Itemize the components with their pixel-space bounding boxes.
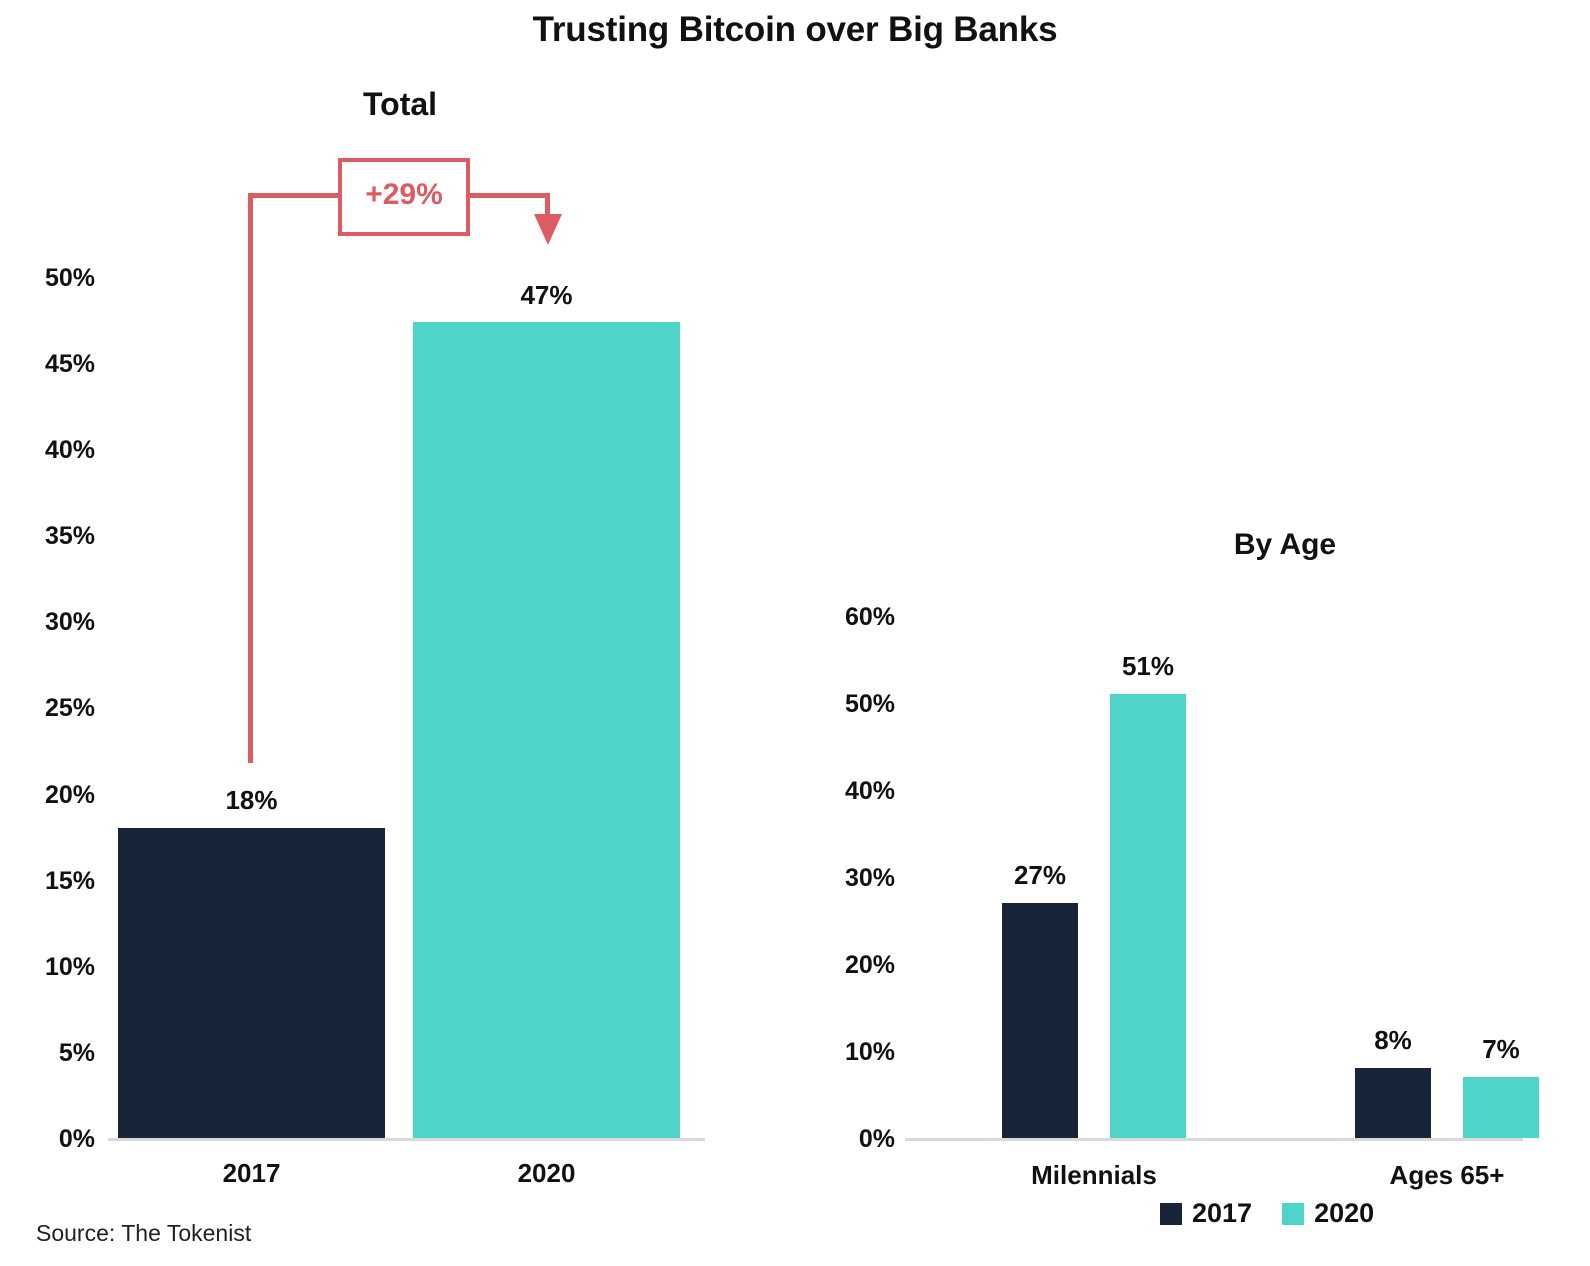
legend-item-2020[interactable]: 2020	[1282, 1198, 1374, 1229]
xtick-total-2020: 2020	[413, 1158, 680, 1189]
x-axis-line-byage	[905, 1138, 1523, 1141]
ytick-left-10: 10%	[0, 953, 95, 982]
bar-total-2020[interactable]	[413, 322, 680, 1138]
legend-item-2017[interactable]: 2017	[1160, 1198, 1252, 1229]
bar-value-byage-milennials-2020: 51%	[1110, 651, 1186, 682]
source-note: Source: The Tokenist	[36, 1220, 251, 1247]
annotation-stem-left	[248, 193, 253, 763]
legend-label-2017: 2017	[1192, 1198, 1252, 1229]
xtick-total-2017: 2017	[118, 1158, 385, 1189]
bar-value-total-2020: 47%	[413, 280, 680, 311]
ytick-right-30: 30%	[790, 864, 895, 893]
ytick-right-0: 0%	[790, 1125, 895, 1154]
ytick-left-5: 5%	[0, 1039, 95, 1068]
xtick-byage-ages65: Ages 65+	[1347, 1160, 1547, 1191]
x-axis-line-total	[108, 1138, 705, 1141]
ytick-left-40: 40%	[0, 436, 95, 465]
annotation-arrow-icon	[534, 214, 562, 245]
annotation-label: +29%	[338, 178, 470, 212]
ytick-left-0: 0%	[0, 1125, 95, 1154]
ytick-right-40: 40%	[790, 777, 895, 806]
ytick-left-50: 50%	[0, 264, 95, 293]
panel-title-total: Total	[250, 86, 550, 123]
bar-byage-ages65-2017[interactable]	[1355, 1068, 1431, 1138]
chart-canvas: Trusting Bitcoin over Big Banks Total 50…	[0, 0, 1590, 1266]
bar-value-byage-milennials-2017: 27%	[1002, 860, 1078, 891]
ytick-right-20: 20%	[790, 951, 895, 980]
page-title: Trusting Bitcoin over Big Banks	[0, 10, 1590, 50]
bar-value-total-2017: 18%	[118, 785, 385, 816]
ytick-left-20: 20%	[0, 781, 95, 810]
bar-value-byage-ages65-2020: 7%	[1463, 1034, 1539, 1065]
bar-byage-milennials-2020[interactable]	[1110, 694, 1186, 1138]
bar-byage-ages65-2020[interactable]	[1463, 1077, 1539, 1138]
bar-byage-milennials-2017[interactable]	[1002, 903, 1078, 1138]
annotation-connector-right	[468, 193, 550, 198]
xtick-byage-milennials: Milennials	[994, 1160, 1194, 1191]
ytick-left-25: 25%	[0, 694, 95, 723]
ytick-left-45: 45%	[0, 350, 95, 379]
ytick-left-15: 15%	[0, 867, 95, 896]
ytick-left-30: 30%	[0, 608, 95, 637]
legend-swatch-2020-icon	[1282, 1203, 1304, 1225]
bar-total-2017[interactable]	[118, 828, 385, 1138]
legend-swatch-2017-icon	[1160, 1203, 1182, 1225]
ytick-left-35: 35%	[0, 522, 95, 551]
bar-value-byage-ages65-2017: 8%	[1355, 1025, 1431, 1056]
legend-label-2020: 2020	[1314, 1198, 1374, 1229]
legend: 2017 2020	[1160, 1198, 1374, 1229]
ytick-right-50: 50%	[790, 690, 895, 719]
annotation-connector-left	[248, 193, 340, 198]
ytick-right-60: 60%	[790, 603, 895, 632]
ytick-right-10: 10%	[790, 1038, 895, 1067]
panel-title-byage: By Age	[1120, 528, 1450, 562]
